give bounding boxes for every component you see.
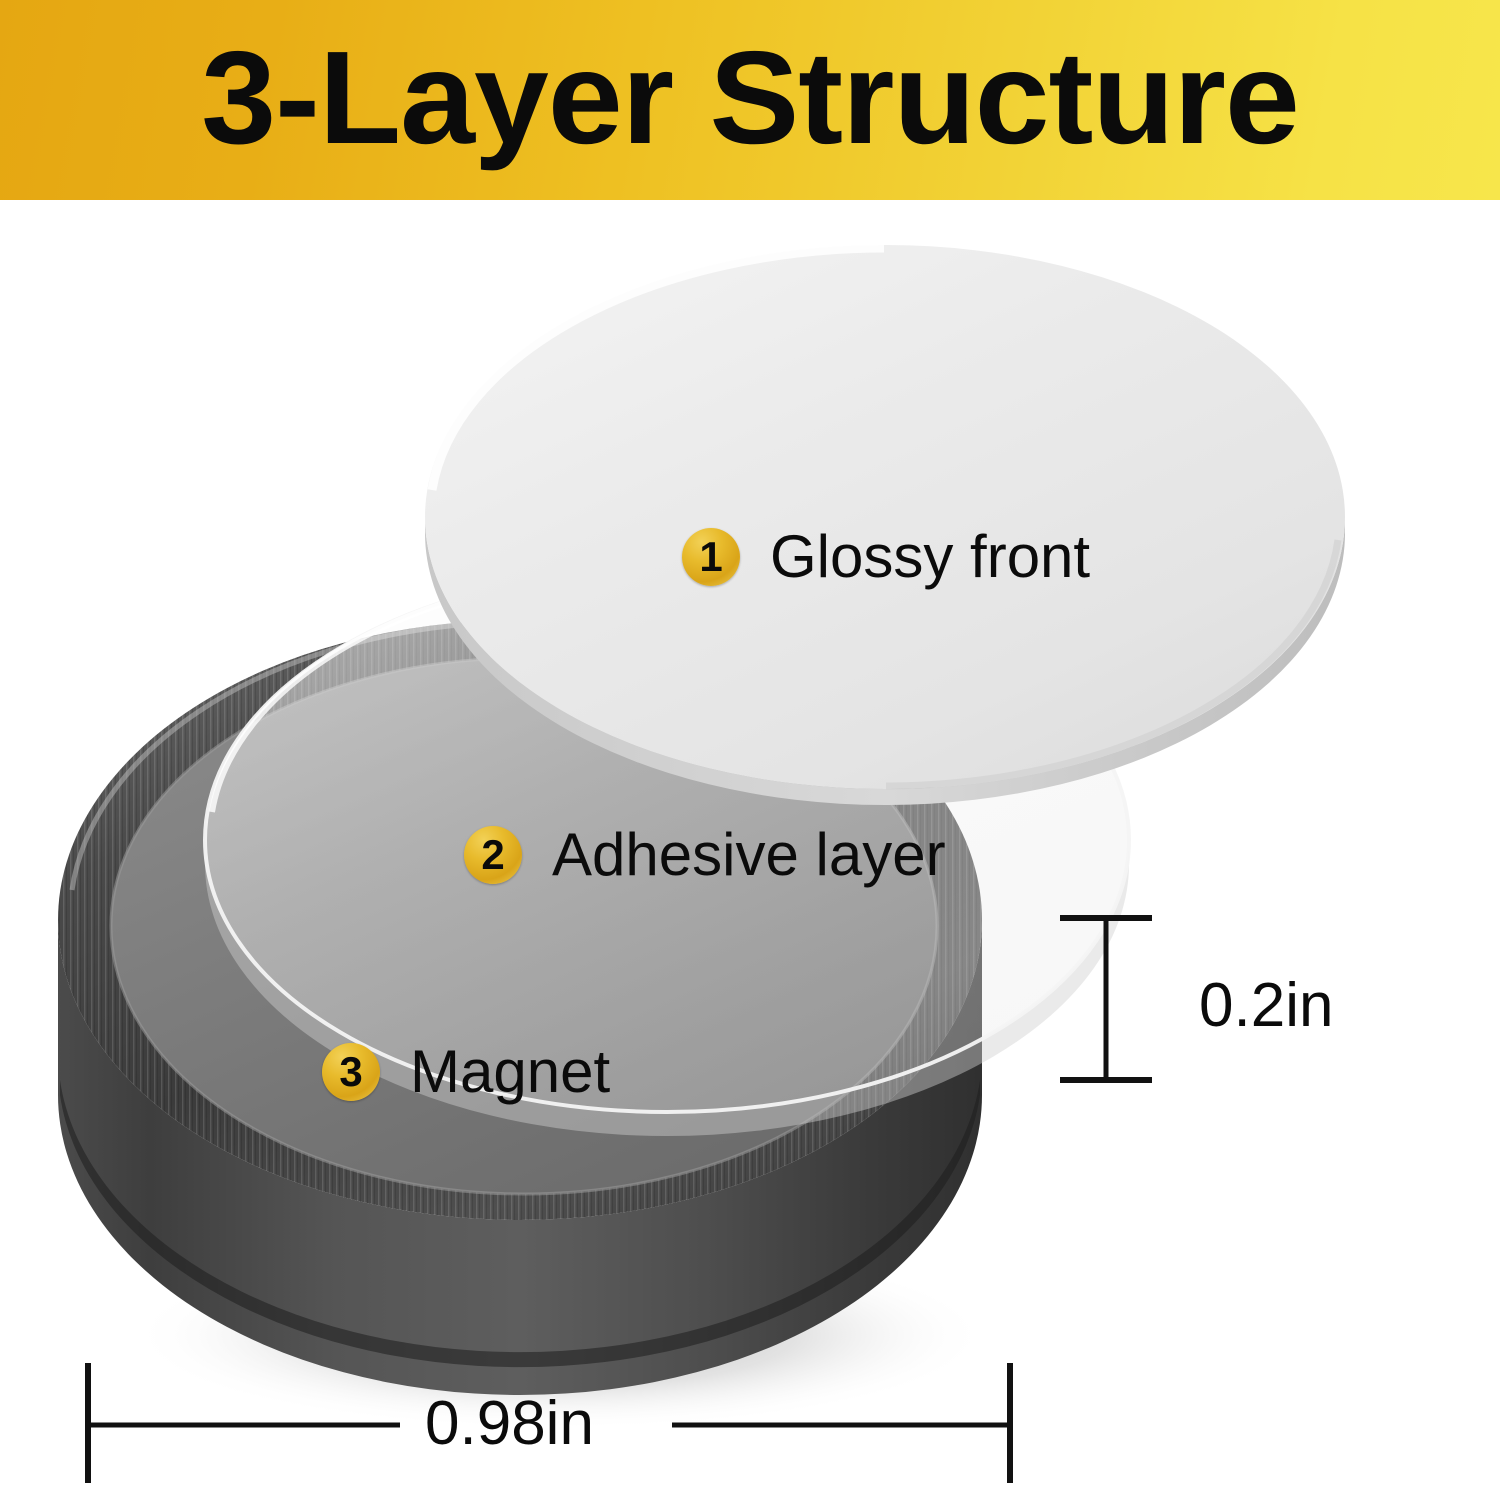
layer-callout-glossy-front: 1 Glossy front <box>682 527 1090 587</box>
infographic-root: 3-Layer Structure <box>0 0 1500 1500</box>
dimension-label-diameter: 0.98in <box>425 1393 594 1455</box>
layer-number-badge-1: 1 <box>682 528 740 586</box>
layer-number-badge-3: 3 <box>322 1043 380 1101</box>
layer-label-3: Magnet <box>410 1042 610 1102</box>
header-banner: 3-Layer Structure <box>0 0 1500 200</box>
layer-number-badge-2: 2 <box>464 826 522 884</box>
page-title: 3-Layer Structure <box>0 0 1500 196</box>
layer-callout-adhesive-layer: 2 Adhesive layer <box>464 825 946 885</box>
layer-callout-magnet: 3 Magnet <box>322 1042 610 1102</box>
layer-label-1: Glossy front <box>770 527 1090 587</box>
dimension-label-thickness: 0.2in <box>1199 975 1333 1037</box>
layer-label-2: Adhesive layer <box>552 825 946 885</box>
